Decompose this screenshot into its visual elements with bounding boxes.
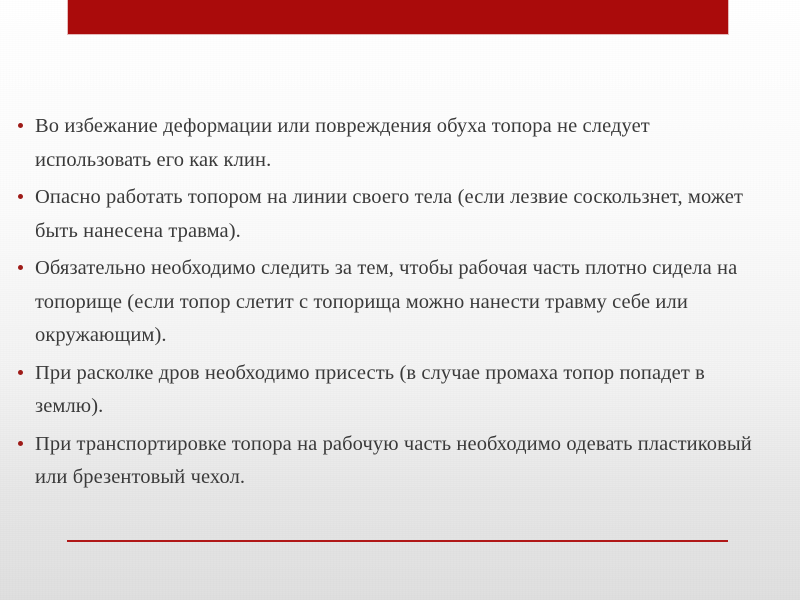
- bullet-item: Обязательно необходимо следить за тем, ч…: [14, 252, 762, 353]
- slide-bottom-divider: [67, 540, 728, 542]
- bullet-item-text: Во избежание деформации или повреждения …: [35, 110, 762, 177]
- bullet-dot-icon: [18, 441, 23, 446]
- bullet-item-text: При расколке дров необходимо присесть (в…: [35, 357, 762, 424]
- bullet-item: Во избежание деформации или повреждения …: [14, 110, 762, 177]
- bullet-dot-icon: [18, 265, 23, 270]
- bullet-item-text: Опасно работать топором на линии своего …: [35, 181, 762, 248]
- bullet-item: При расколке дров необходимо присесть (в…: [14, 357, 762, 424]
- bullet-item: Опасно работать топором на линии своего …: [14, 181, 762, 248]
- presentation-slide: Во избежание деформации или повреждения …: [0, 0, 800, 600]
- bullet-dot-icon: [18, 123, 23, 128]
- bullet-item-text: При транспортировке топора на рабочую ча…: [35, 428, 762, 495]
- slide-bullet-list: Во избежание деформации или повреждения …: [14, 110, 762, 499]
- bullet-item: При транспортировке топора на рабочую ча…: [14, 428, 762, 495]
- bullet-dot-icon: [18, 194, 23, 199]
- bullet-dot-icon: [18, 370, 23, 375]
- slide-title-banner: [68, 0, 728, 34]
- bullet-item-text: Обязательно необходимо следить за тем, ч…: [35, 252, 762, 353]
